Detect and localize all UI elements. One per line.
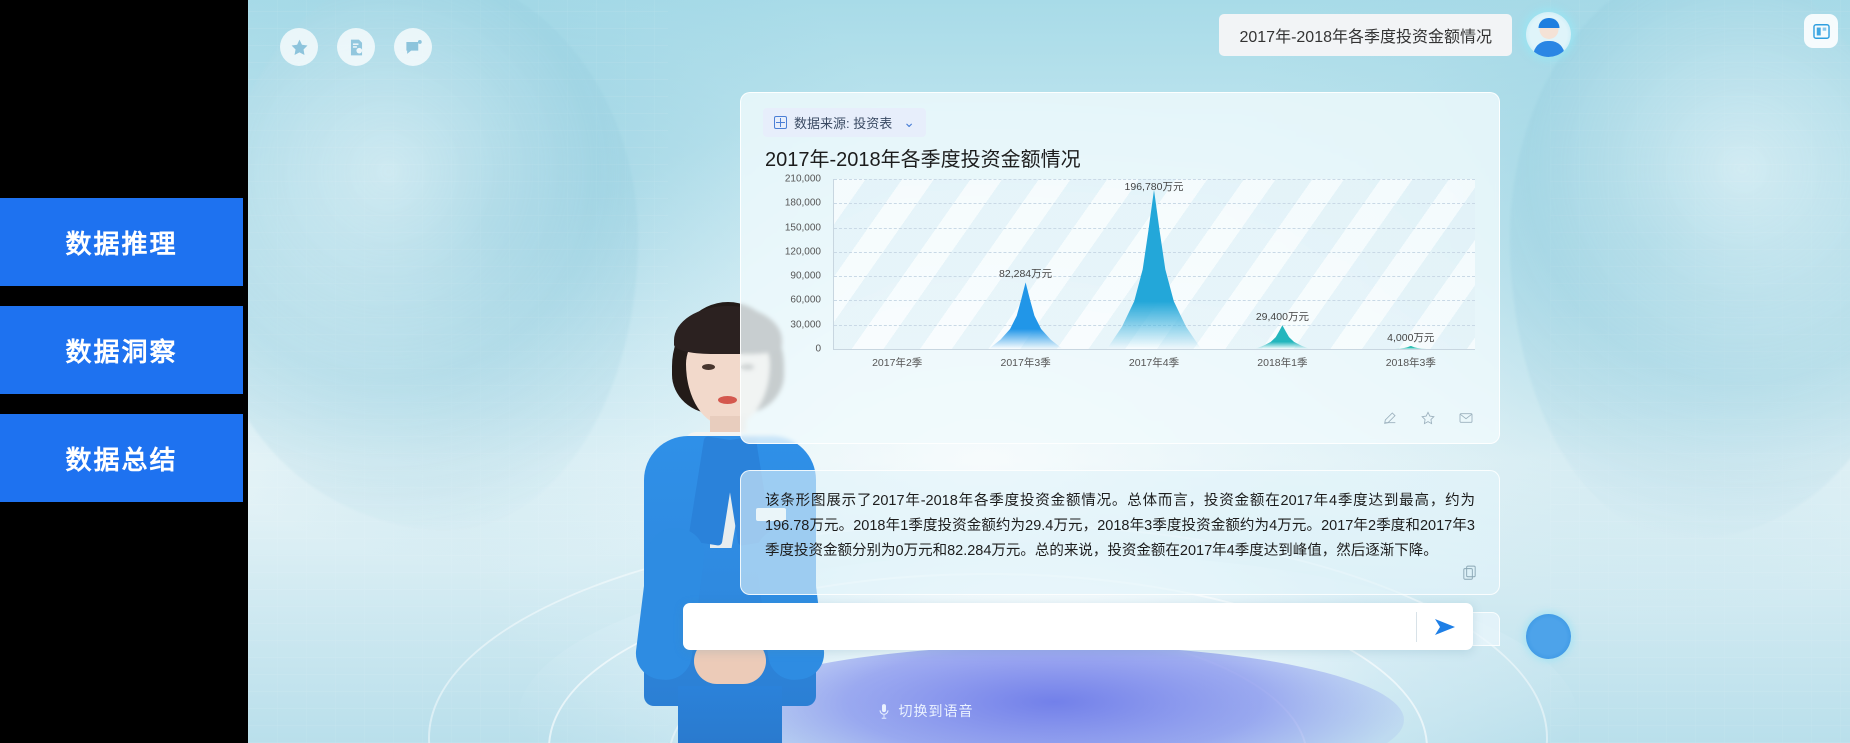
tech-texture-right: [1550, 0, 1850, 743]
y-axis-tick-label: 210,000: [785, 174, 821, 185]
avatar-mouth: [718, 396, 737, 404]
x-axis-tick-label: 2018年3季: [1386, 355, 1436, 370]
chart-point-label: 196,780万元: [1125, 179, 1184, 194]
sidebar-item-data-summary[interactable]: 数据总结: [0, 414, 243, 502]
y-axis-tick-label: 180,000: [785, 198, 821, 209]
x-axis-tick-label: 2018年1季: [1257, 355, 1307, 370]
chart-peak: [989, 282, 1063, 349]
y-axis-tick-label: 120,000: [785, 246, 821, 257]
chat-input[interactable]: [683, 603, 1416, 650]
chart-plot-area: 210,000180,000150,000120,00090,00060,000…: [765, 179, 1475, 379]
y-axis-tick-label: 150,000: [785, 222, 821, 233]
table-icon: [774, 116, 787, 129]
chevron-down-icon: ⌄: [903, 114, 915, 131]
x-axis-tick-label: 2017年4季: [1129, 355, 1179, 370]
insight-text: 该条形图展示了2017年-2018年各季度投资金额情况。总体而言，投资金额在20…: [765, 489, 1475, 564]
robot-head-left-decor: [248, 0, 638, 530]
chart-title: 2017年-2018年各季度投资金额情况: [765, 143, 1081, 172]
chart-point-label: 29,400万元: [1256, 309, 1309, 324]
sidebar-item-label: 数据推理: [65, 224, 177, 261]
x-axis-tick-label: 2017年3季: [1000, 355, 1050, 370]
chart-peak: [1255, 325, 1310, 349]
microphone-icon: [877, 703, 891, 720]
chat-icon[interactable]: [394, 28, 432, 66]
chart-y-axis: 210,000180,000150,000120,00090,00060,000…: [765, 179, 827, 349]
chat-input-bar: [683, 603, 1473, 650]
robot-head-right-decor: [1510, 0, 1850, 540]
chart-series-peaks: 82,284万元196,780万元29,400万元4,000万元: [833, 179, 1475, 349]
user-query-row: 2017年-2018年各季度投资金额情况: [1219, 12, 1571, 57]
edit-icon[interactable]: [1379, 407, 1401, 429]
switch-to-voice-button[interactable]: 切换到语音: [0, 701, 1850, 721]
sidebar-item-label: 数据总结: [65, 440, 177, 477]
send-icon[interactable]: [1417, 603, 1473, 650]
avatar[interactable]: [1526, 12, 1571, 57]
y-axis-tick-label: 60,000: [790, 295, 821, 306]
data-source-label: 数据来源: 投资表: [794, 113, 892, 132]
chart-point-label: 4,000万元: [1387, 330, 1434, 345]
avatar-hair-shape: [1538, 18, 1559, 28]
chart-card: 数据来源: 投资表 ⌄ 2017年-2018年各季度投资金额情况 210,000…: [740, 92, 1500, 444]
app-root: 数据推理 数据洞察 数据总结 2017年-2018年各季度投资金额情况: [0, 0, 1850, 743]
chart-action-group: [1379, 407, 1477, 429]
sidebar-item-data-insight[interactable]: 数据洞察: [0, 306, 243, 394]
panel-layout-icon[interactable]: [1804, 14, 1838, 48]
report-icon[interactable]: [337, 28, 375, 66]
switch-to-voice-label: 切换到语音: [899, 701, 974, 721]
user-query-chip[interactable]: 2017年-2018年各季度投资金额情况: [1219, 14, 1512, 56]
avatar-eye-left: [702, 364, 715, 370]
chart-peak: [1395, 346, 1427, 349]
mail-icon[interactable]: [1455, 407, 1477, 429]
star-icon[interactable]: [280, 28, 318, 66]
star-icon[interactable]: [1417, 407, 1439, 429]
avatar-body-shape: [1533, 41, 1564, 57]
y-axis-tick-label: 30,000: [790, 319, 821, 330]
sidebar-item-label: 数据洞察: [65, 332, 177, 369]
y-axis-tick-label: 90,000: [790, 271, 821, 282]
chart-baseline: [833, 349, 1475, 350]
top-tool-group: [280, 28, 432, 66]
chart-point-label: 82,284万元: [999, 266, 1052, 281]
left-sidebar: 数据推理 数据洞察 数据总结: [0, 0, 248, 743]
y-axis-tick-label: 0: [815, 344, 821, 355]
copy-icon[interactable]: [1461, 564, 1481, 584]
pending-user-avatar: [1526, 614, 1571, 659]
data-source-chip[interactable]: 数据来源: 投资表 ⌄: [763, 108, 926, 137]
chart-x-axis: 2017年2季2017年3季2017年4季2018年1季2018年3季: [833, 355, 1475, 377]
insight-card: 该条形图展示了2017年-2018年各季度投资金额情况。总体而言，投资金额在20…: [740, 470, 1500, 595]
sidebar-item-data-reasoning[interactable]: 数据推理: [0, 198, 243, 286]
chart-peak: [1107, 190, 1201, 349]
x-axis-tick-label: 2017年2季: [872, 355, 922, 370]
